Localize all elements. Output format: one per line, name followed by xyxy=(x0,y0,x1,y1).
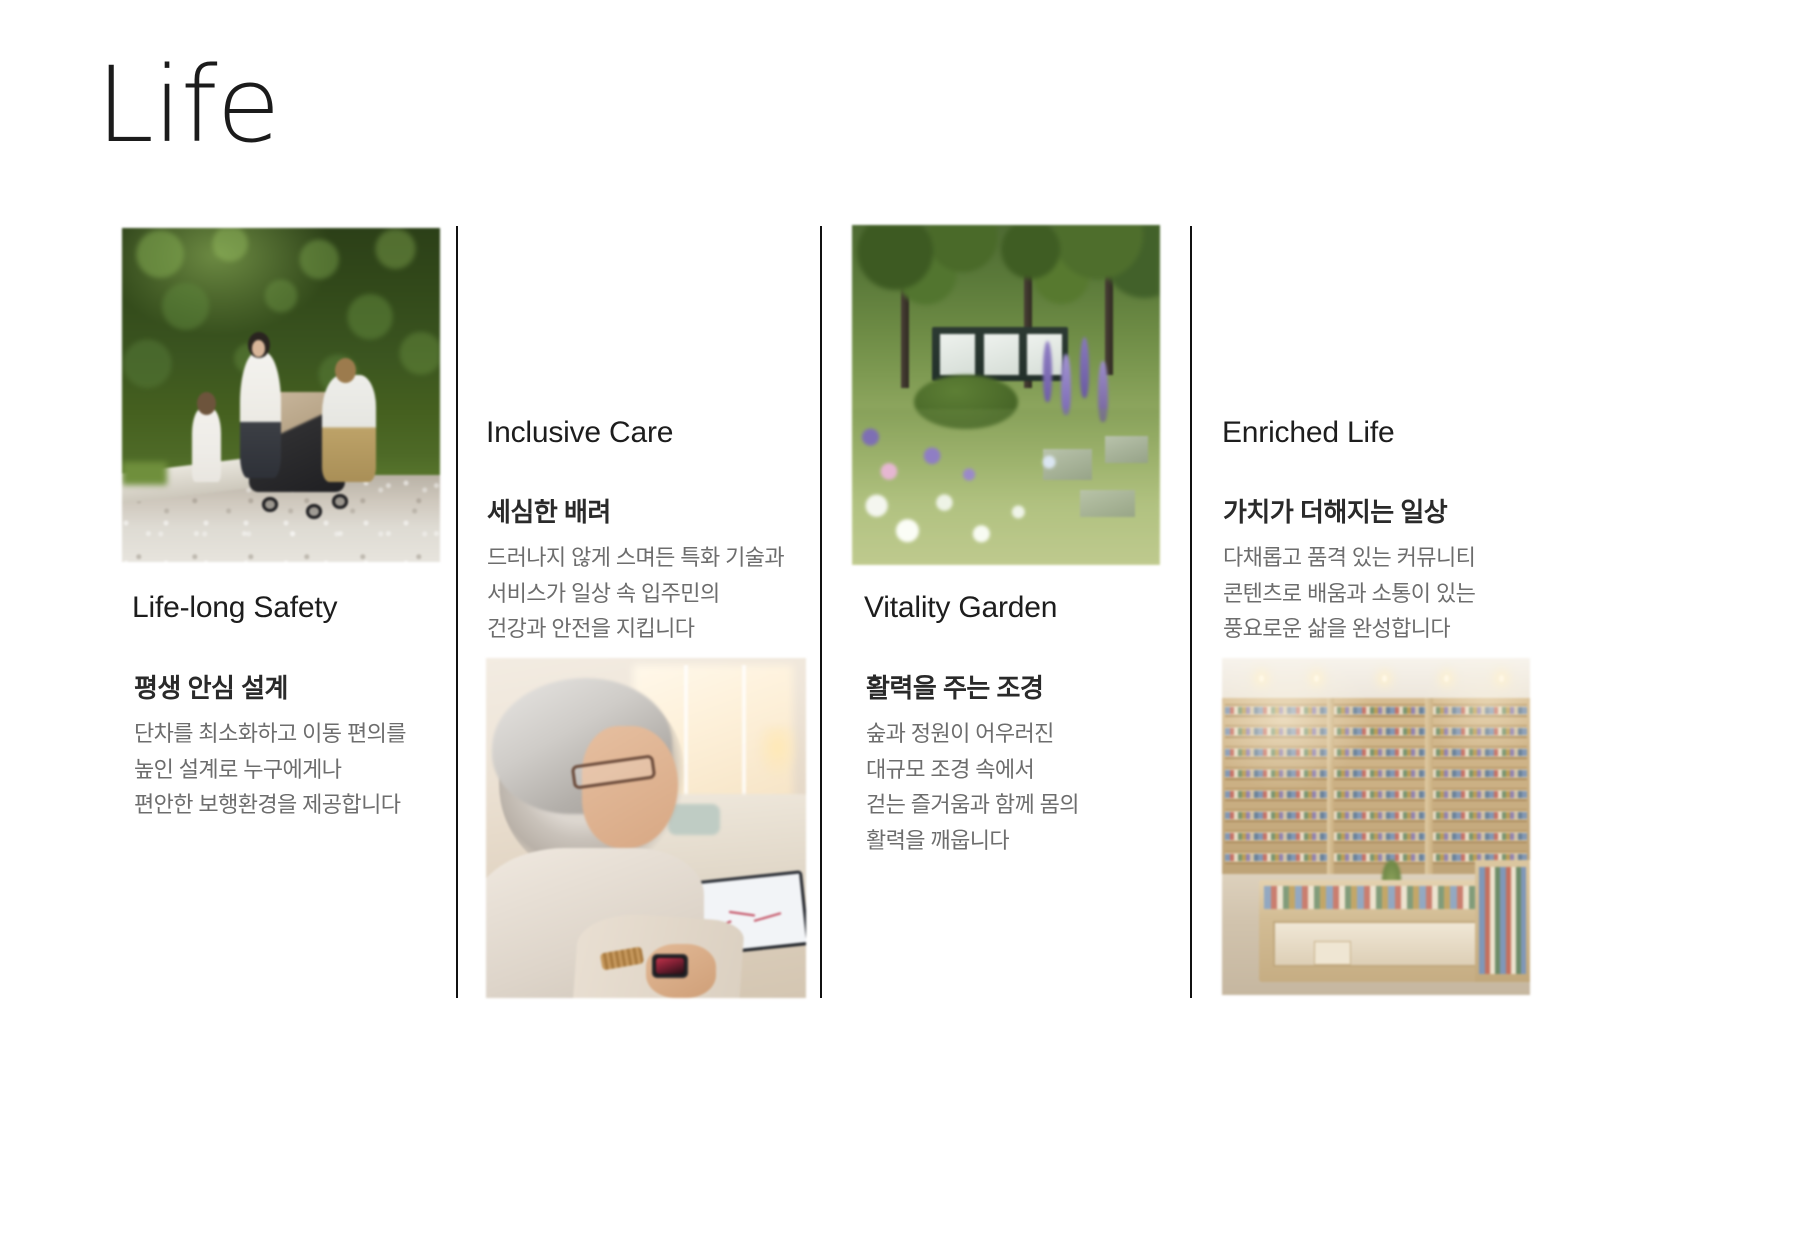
eyebrow-enriched-life: Enriched Life xyxy=(1222,416,1395,450)
subhead-life-long-safety: 평생 안심 설계 xyxy=(134,668,288,705)
subhead-enriched-life: 가치가 더해지는 일상 xyxy=(1223,492,1447,529)
column-divider-2 xyxy=(820,226,822,998)
family-with-stroller-on-garden-path-photo xyxy=(122,228,440,562)
life-feature-columns: Life-long Safety 평생 안심 설계 단차를 최소화하고 이동 편… xyxy=(0,0,1800,1255)
body-life-long-safety: 단차를 최소화하고 이동 편의를 높인 설계로 누구에게나 편안한 보행환경을 … xyxy=(134,716,444,823)
landscaped-flower-garden-with-pavilion-photo xyxy=(852,225,1160,565)
eyebrow-inclusive-care: Inclusive Care xyxy=(486,416,673,450)
community-library-interior-photo xyxy=(1222,658,1530,995)
subhead-inclusive-care: 세심한 배려 xyxy=(487,492,611,529)
body-inclusive-care: 드러나지 않게 스며든 특화 기술과 서비스가 일상 속 입주민의 건강과 안전… xyxy=(487,540,807,647)
body-enriched-life: 다채롭고 품격 있는 커뮤니티 콘텐츠로 배움과 소통이 있는 풍요로운 삶을 … xyxy=(1223,540,1523,647)
body-vitality-garden: 숲과 정원이 어우러진 대규모 조경 속에서 걷는 즐거움과 함께 몸의 활력을… xyxy=(866,716,1166,859)
column-divider-3 xyxy=(1190,226,1192,998)
subhead-vitality-garden: 활력을 주는 조경 xyxy=(866,668,1043,705)
senior-woman-with-tablet-and-smartwatch-photo xyxy=(486,658,806,998)
eyebrow-vitality-garden: Vitality Garden xyxy=(864,591,1057,625)
eyebrow-life-long-safety: Life-long Safety xyxy=(132,591,337,625)
column-divider-1 xyxy=(456,226,458,998)
